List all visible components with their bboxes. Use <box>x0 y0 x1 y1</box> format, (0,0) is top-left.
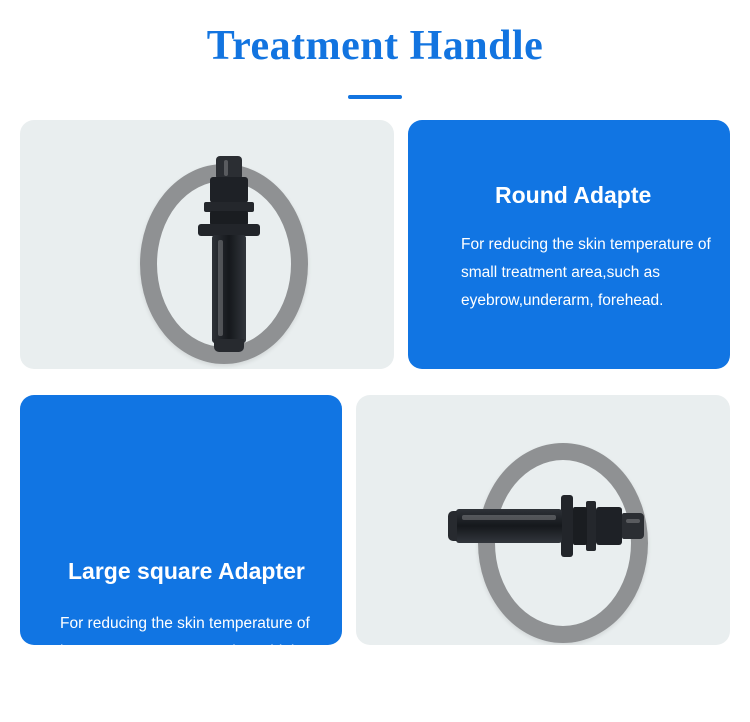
large-square-adapter-heading: Large square Adapter <box>20 558 342 585</box>
round-adapter-photo <box>20 120 394 369</box>
round-adapter-description: For reducing the skin temperature of sma… <box>408 231 730 315</box>
card-round-adapter-text: Round Adapte For reducing the skin tempe… <box>408 120 730 369</box>
card-round-adapter-photo <box>20 120 394 369</box>
card-large-square-adapter-text: Large square Adapter For reducing the sk… <box>20 395 342 645</box>
treatment-handle-page: Treatment Handle <box>0 0 750 663</box>
card-large-square-adapter-photo <box>356 395 730 645</box>
connector-horizontal-shape <box>448 495 644 557</box>
title-underline-rule <box>348 95 402 99</box>
round-adapter-heading: Round Adapte <box>408 182 730 209</box>
connector-vertical-shape <box>198 156 260 352</box>
large-square-adapter-photo <box>356 395 730 645</box>
adapter-card-grid: Round Adapte For reducing the skin tempe… <box>20 120 730 645</box>
large-square-adapter-description: For reducing the skin temperature of lar… <box>20 610 342 722</box>
page-title: Treatment Handle <box>0 22 750 70</box>
page-header: Treatment Handle <box>0 0 750 118</box>
